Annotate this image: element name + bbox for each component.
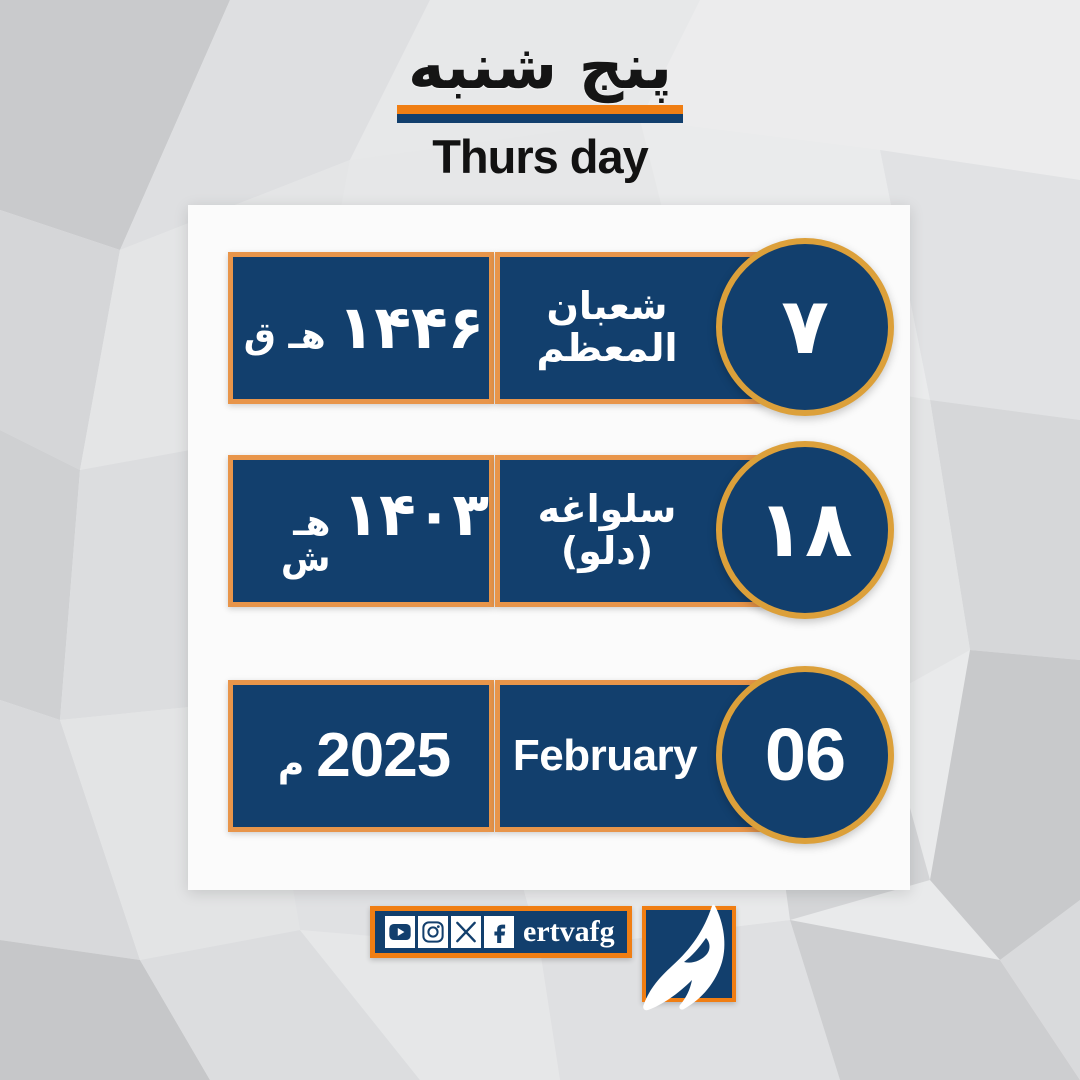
calendar-row-hijri-qamari: ۱۴۴۶ هـ ق شعبان المعظم ۷ <box>188 252 910 404</box>
calendar-card: ۱۴۴۶ هـ ق شعبان المعظم ۷ ۱۴۰۳ هـ ش سلواغ… <box>188 205 910 890</box>
day-name-english: Thurs day <box>0 129 1080 184</box>
footer: ertvafg <box>370 906 736 1002</box>
day-name-farsi: پنج شنبه <box>0 34 1080 99</box>
youtube-icon[interactable] <box>385 916 415 948</box>
social-handle: ertvafg <box>523 917 615 947</box>
year-era-label: هـ ق <box>244 319 326 355</box>
header-rule-navy <box>397 114 683 123</box>
calendar-row-gregorian: 2025 م February 06 <box>188 680 910 832</box>
header-rule-stack <box>397 105 683 123</box>
day-circle-hijri-shamsi: ۱۸ <box>716 441 894 619</box>
year-box-gregorian: 2025 م <box>228 680 494 832</box>
social-media-bar: ertvafg <box>370 906 632 958</box>
year-inner: ۱۴۴۶ هـ ق <box>233 298 489 358</box>
day-value: ۷ <box>781 288 829 366</box>
facebook-icon[interactable] <box>484 916 514 948</box>
x-icon[interactable] <box>451 916 481 948</box>
day-circle-gregorian: 06 <box>716 666 894 844</box>
day-value: 06 <box>765 718 845 792</box>
calendar-row-hijri-shamsi: ۱۴۰۳ هـ ش سلواغه (دلو) ۱۸ <box>188 455 910 607</box>
year-box-hijri-shamsi: ۱۴۰۳ هـ ش <box>228 455 494 607</box>
year-era-label: هـ ش <box>239 506 331 578</box>
header-rule-orange <box>397 105 683 114</box>
year-box-hijri-qamari: ۱۴۴۶ هـ ق <box>228 252 494 404</box>
calendar-graphic: پنج شنبه Thurs day ۱۴۴۶ هـ ق شعبان المعظ… <box>0 0 1080 1080</box>
year-value: ۱۴۰۳ <box>343 485 489 545</box>
year-value: 2025 <box>316 725 450 787</box>
year-era-label: م <box>278 747 304 783</box>
year-inner: 2025 م <box>233 725 489 787</box>
year-value: ۱۴۴۶ <box>338 298 484 358</box>
year-inner: ۱۴۰۳ هـ ش <box>233 485 489 578</box>
ertv-flame-logo <box>642 906 736 1002</box>
day-circle-hijri-qamari: ۷ <box>716 238 894 416</box>
instagram-icon[interactable] <box>418 916 448 948</box>
day-value: ۱۸ <box>757 491 852 569</box>
header: پنج شنبه Thurs day <box>0 34 1080 184</box>
